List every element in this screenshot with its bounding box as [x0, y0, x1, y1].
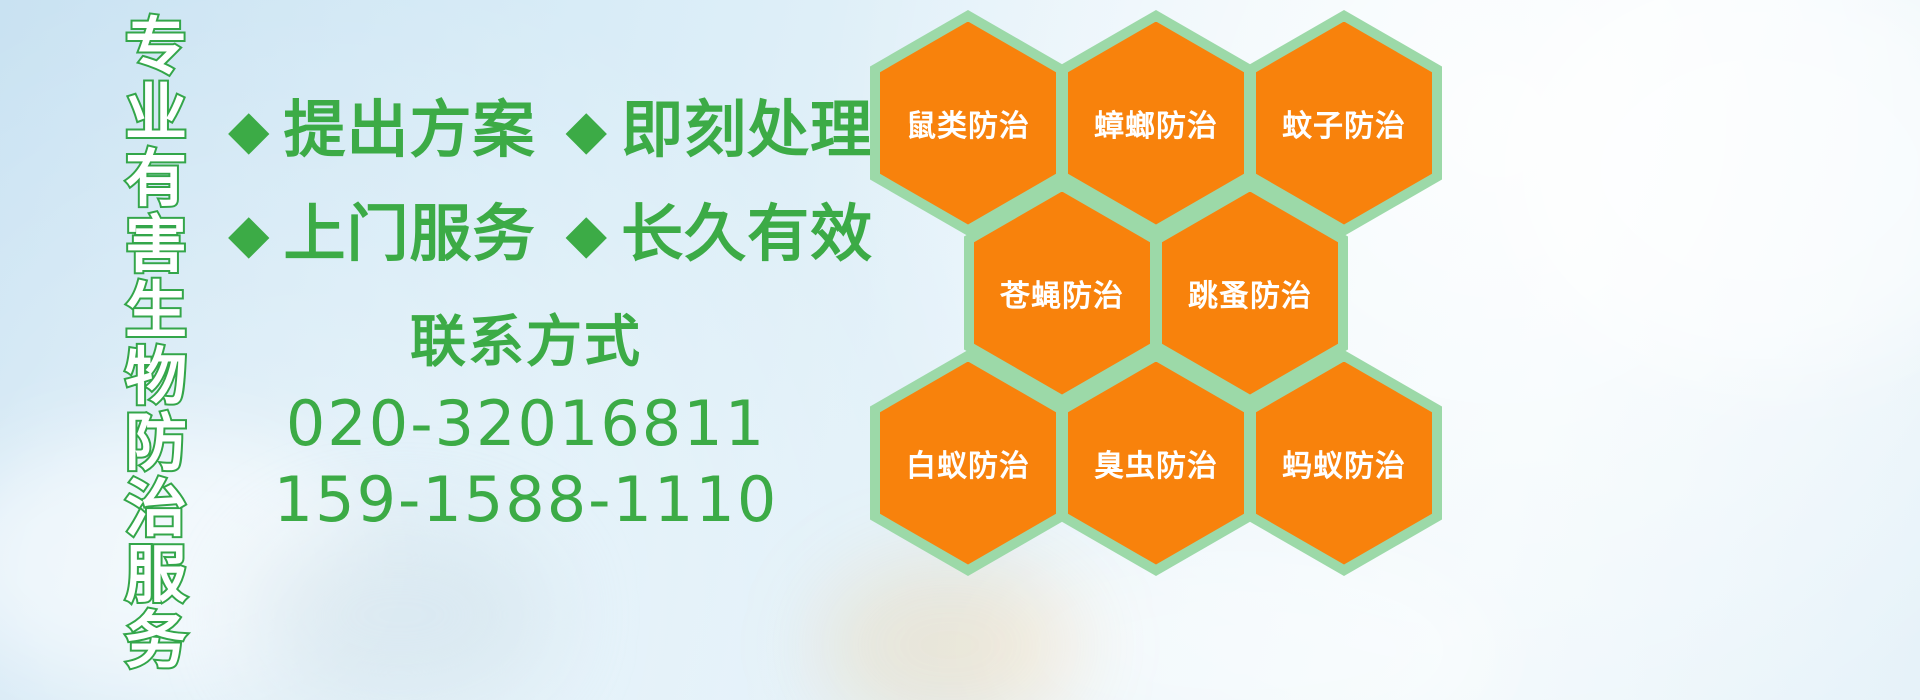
- hex-label: 鼠类防治: [906, 101, 1030, 145]
- background-light-blob: [1500, 0, 1920, 380]
- hex-label: 白蚁防治: [906, 441, 1030, 485]
- background-light-blob: [820, 560, 1080, 700]
- vertical-headline: 专 业 有 害 生 物 防 治 服 务: [108, 14, 204, 674]
- phone-number-mobile[interactable]: 159-1588-1110: [246, 462, 806, 538]
- feature-label: 提出方案: [284, 97, 536, 163]
- hex-inner: 臭虫防治: [1068, 362, 1244, 565]
- diamond-bullet-icon: ◆: [228, 207, 270, 261]
- diamond-bullet-icon: ◆: [566, 207, 608, 261]
- diamond-bullet-icon: ◆: [566, 103, 608, 157]
- feature-label: 上门服务: [284, 201, 536, 267]
- vertical-headline-char: 防: [125, 410, 187, 476]
- vertical-headline-char: 物: [125, 344, 187, 410]
- contact-block: 联系方式 020-32016811 159-1588-1110: [246, 312, 806, 538]
- hex-label: 臭虫防治: [1094, 441, 1218, 485]
- hex-inner: 蚊子防治: [1256, 22, 1432, 225]
- vertical-headline-char: 专: [125, 14, 187, 80]
- hex-label: 跳蚤防治: [1188, 271, 1312, 315]
- vertical-headline-char: 业: [125, 80, 187, 146]
- background-light-blob: [980, 540, 1500, 700]
- vertical-headline-char: 有: [125, 146, 187, 212]
- promo-banner: 专 业 有 害 生 物 防 治 服 务 ◆ 提出方案 ◆ 即刻处理 ◆ 上门服务…: [0, 0, 1920, 700]
- hex-inner: 鼠类防治: [880, 22, 1056, 225]
- hex-label: 蚂蚁防治: [1282, 441, 1406, 485]
- service-honeycomb: 鼠类防治 蟑螂防治 蚊子防治 苍蝇防治 跳蚤防治 白蚁防治: [862, 2, 1462, 562]
- hex-inner: 跳蚤防治: [1162, 192, 1338, 395]
- feature-row: ◆ 上门服务 ◆ 长久有效: [228, 182, 873, 286]
- hex-inner: 蟑螂防治: [1068, 22, 1244, 225]
- phone-number-landline[interactable]: 020-32016811: [246, 386, 806, 462]
- hex-inner: 苍蝇防治: [974, 192, 1150, 395]
- vertical-headline-char: 务: [125, 608, 187, 674]
- feature-label: 即刻处理: [621, 97, 873, 163]
- vertical-headline-char: 害: [125, 212, 187, 278]
- hex-inner: 蚂蚁防治: [1256, 362, 1432, 565]
- background-light-blob: [250, 520, 550, 700]
- hex-label: 蚊子防治: [1282, 101, 1406, 145]
- hex-label: 苍蝇防治: [1000, 271, 1124, 315]
- vertical-headline-char: 治: [125, 476, 187, 542]
- vertical-headline-char: 服: [125, 542, 187, 608]
- contact-title: 联系方式: [246, 312, 806, 374]
- feature-label: 长久有效: [621, 201, 873, 267]
- feature-list: ◆ 提出方案 ◆ 即刻处理 ◆ 上门服务 ◆ 长久有效: [228, 78, 873, 286]
- feature-row: ◆ 提出方案 ◆ 即刻处理: [228, 78, 873, 182]
- hex-label: 蟑螂防治: [1094, 101, 1218, 145]
- vertical-headline-char: 生: [125, 278, 187, 344]
- hex-inner: 白蚁防治: [880, 362, 1056, 565]
- diamond-bullet-icon: ◆: [228, 103, 270, 157]
